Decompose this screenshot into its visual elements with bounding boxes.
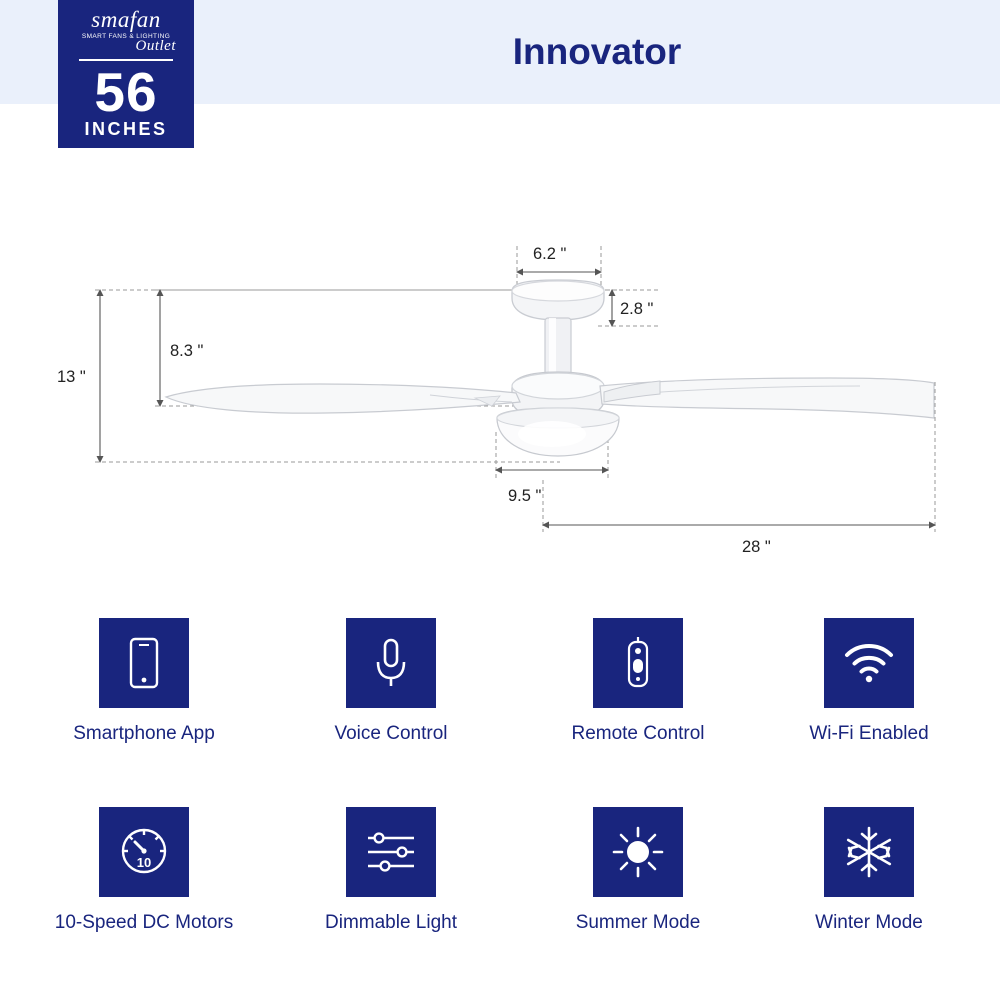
feature-grid: Smartphone App Voice Control Remote Cont…	[0, 612, 1000, 1000]
sliders-icon	[346, 807, 436, 897]
feature-10-speed-dc-motors: 10 10-Speed DC Motors	[19, 807, 269, 934]
wifi-icon	[824, 618, 914, 708]
feature-label: Remote Control	[513, 723, 763, 745]
page-title: Innovator	[194, 0, 1000, 104]
feature-label: Winter Mode	[744, 912, 994, 934]
feature-label: Wi-Fi Enabled	[744, 723, 994, 745]
microphone-icon	[346, 618, 436, 708]
size-badge: smafan SMART FANS & LIGHTING Outlet 56 I…	[58, 0, 194, 148]
feature-dimmable-light: Dimmable Light	[266, 807, 516, 934]
smartphone-icon	[99, 618, 189, 708]
feature-label: Dimmable Light	[266, 912, 516, 934]
feature-summer-mode: Summer Mode	[513, 807, 763, 934]
brand-logo: smafan	[58, 8, 194, 31]
remote-control-icon	[593, 618, 683, 708]
feature-label: 10-Speed DC Motors	[19, 912, 269, 934]
feature-label: Summer Mode	[513, 912, 763, 934]
feature-smartphone-app: Smartphone App	[19, 618, 269, 745]
svg-text:10: 10	[137, 855, 151, 870]
dimension-label-motor-width: 9.5 "	[508, 487, 541, 506]
feature-winter-mode: Winter Mode	[744, 807, 994, 934]
dimension-label-blade-span: 28 "	[742, 538, 771, 557]
fan-diagram: 6.2 " 2.8 " 8.3 " 13 " 9.5 " 28 "	[0, 150, 1000, 610]
feature-voice-control: Voice Control	[266, 618, 516, 745]
badge-size-number: 56	[58, 63, 194, 121]
feature-label: Smartphone App	[19, 723, 269, 745]
dimension-label-total-height: 13 "	[57, 368, 86, 387]
feature-wifi-enabled: Wi-Fi Enabled	[744, 618, 994, 745]
fan-diagram-svg	[0, 150, 1000, 610]
badge-size-unit: INCHES	[58, 119, 194, 140]
brand-outlet-wordmark: Outlet	[58, 38, 194, 55]
dimension-label-canopy-width: 6.2 "	[533, 245, 566, 264]
dimension-label-downrod-drop: 8.3 "	[170, 342, 203, 361]
sun-icon	[593, 807, 683, 897]
snowflake-icon	[824, 807, 914, 897]
feature-label: Voice Control	[266, 723, 516, 745]
fan-illustration	[166, 280, 934, 456]
dimension-label-canopy-height: 2.8 "	[620, 300, 653, 319]
feature-remote-control: Remote Control	[513, 618, 763, 745]
speedometer-icon: 10	[99, 807, 189, 897]
